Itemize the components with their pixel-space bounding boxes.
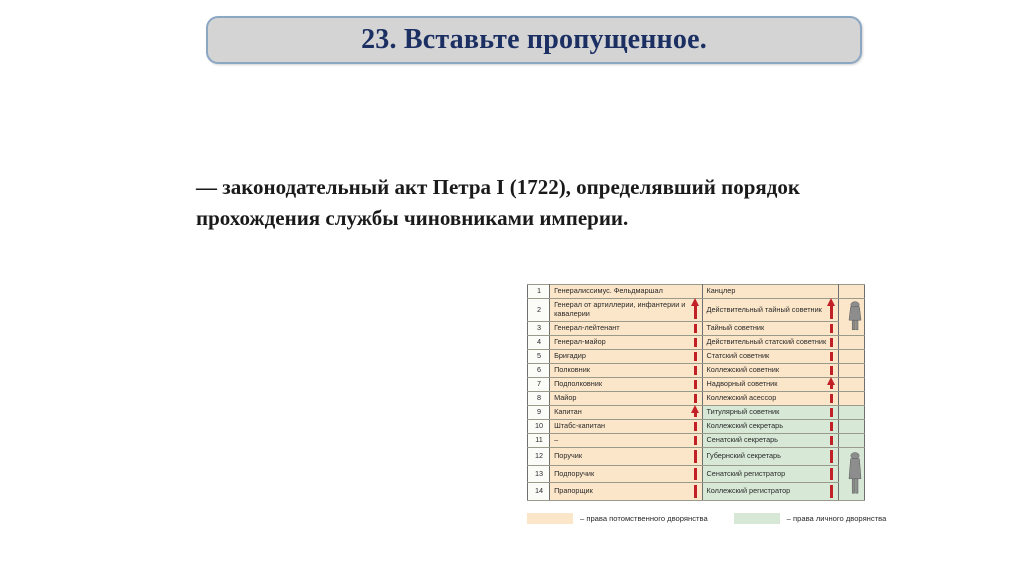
rank-number: 7 <box>528 378 550 392</box>
rank-progression-marker <box>694 378 697 391</box>
civil-rank-label: Надворный советник <box>707 379 778 388</box>
table-row: 12ПоручикГубернский секретарь <box>528 448 865 466</box>
civil-rank-label: Сенатский секретарь <box>707 435 779 444</box>
military-rank-cell: – <box>550 434 702 448</box>
figure-illustration-cell <box>838 434 864 448</box>
rank-progression-marker <box>830 299 833 321</box>
figure-illustration-cell <box>838 336 864 350</box>
marker-dash <box>830 468 833 481</box>
military-rank-cell: Майор <box>550 392 702 406</box>
rank-number: 12 <box>528 448 550 466</box>
civil-rank-cell: Действительный статский советник <box>702 336 838 350</box>
military-rank-label: Полковник <box>554 365 590 374</box>
military-rank-cell: Прапорщик <box>550 483 702 501</box>
table-row: 14ПрапорщикКоллежский регистратор <box>528 483 865 501</box>
page-title: 23. Вставьте пропущенное. <box>361 24 707 56</box>
military-rank-cell: Подпоручик <box>550 465 702 483</box>
legend-label: – права потомственного дворянства <box>580 514 708 523</box>
civil-rank-cell: Коллежский регистратор <box>702 483 838 501</box>
marker-dash <box>694 380 697 389</box>
military-rank-label: Подпоручик <box>554 469 594 478</box>
military-rank-cell: Поручик <box>550 448 702 466</box>
rank-progression-marker <box>694 299 697 321</box>
military-rank-label: Генерал-майор <box>554 337 606 346</box>
figure-illustration-cell <box>838 420 864 434</box>
civil-rank-cell: Коллежский секретарь <box>702 420 838 434</box>
marker-dash <box>694 366 697 375</box>
marker-dash <box>694 436 697 445</box>
military-rank-cell: Подполковник <box>550 378 702 392</box>
civil-rank-cell: Коллежский асессор <box>702 392 838 406</box>
military-rank-label: Бригадир <box>554 351 586 360</box>
civil-rank-label: Коллежский регистратор <box>707 486 791 495</box>
marker-dash <box>694 468 697 481</box>
figure-illustration-cell <box>838 350 864 364</box>
civil-rank-label: Титулярный советник <box>707 407 780 416</box>
figure-illustration-cell <box>838 378 864 392</box>
figure-illustration-cell <box>838 448 864 501</box>
table-row: 1Генералиссимус. ФельдмаршалКанцлер <box>528 285 865 299</box>
rank-table: 1Генералиссимус. ФельдмаршалКанцлер2Гене… <box>527 284 865 501</box>
rank-progression-marker <box>694 466 697 483</box>
marker-dash <box>694 413 697 417</box>
military-rank-cell: Генерал-майор <box>550 336 702 350</box>
marker-arrowhead <box>691 405 699 413</box>
military-rank-label: Генерал-лейтенант <box>554 323 620 332</box>
rank-progression-marker <box>694 448 697 465</box>
civil-rank-cell: Надворный советник <box>702 378 838 392</box>
table-row: 4Генерал-майорДействительный статский со… <box>528 336 865 350</box>
rank-progression-marker <box>694 483 697 500</box>
military-rank-label: Поручик <box>554 451 582 460</box>
table-row: 6ПолковникКоллежский советник <box>528 364 865 378</box>
legend-label: – права личного дворянства <box>787 514 887 523</box>
marker-dash <box>830 394 833 403</box>
civil-rank-cell: Статский советник <box>702 350 838 364</box>
military-rank-cell: Генерал-лейтенант <box>550 321 702 335</box>
rank-progression-marker <box>830 406 833 419</box>
marker-dash <box>830 408 833 417</box>
historical-figure-illustration <box>843 450 867 498</box>
rank-progression-marker <box>694 364 697 377</box>
rank-number: 5 <box>528 350 550 364</box>
slide-title-banner: 23. Вставьте пропущенное. <box>206 16 862 64</box>
civil-rank-label: Сенатский регистратор <box>707 469 786 478</box>
rank-progression-marker <box>830 364 833 377</box>
rank-number: 13 <box>528 465 550 483</box>
civil-rank-label: Действительный статский советник <box>707 337 827 346</box>
military-rank-label: Капитан <box>554 407 582 416</box>
rank-progression-marker <box>830 483 833 500</box>
rank-number: 11 <box>528 434 550 448</box>
marker-arrowhead <box>827 298 835 306</box>
rank-number: 6 <box>528 364 550 378</box>
rank-progression-marker <box>830 392 833 405</box>
figure-illustration-cell <box>838 364 864 378</box>
rank-number: 1 <box>528 285 550 299</box>
civil-rank-label: Коллежский асессор <box>707 393 777 402</box>
marker-dash <box>830 352 833 361</box>
marker-arrowhead <box>691 298 699 306</box>
rank-progression-marker <box>830 336 833 349</box>
civil-rank-cell: Канцлер <box>702 285 838 299</box>
civil-rank-cell: Сенатский секретарь <box>702 434 838 448</box>
rank-progression-marker <box>694 322 697 335</box>
figure-illustration-cell <box>838 392 864 406</box>
military-rank-label: – <box>554 435 558 444</box>
figure-illustration-cell <box>838 299 864 336</box>
marker-dash <box>694 324 697 333</box>
rank-progression-marker <box>694 434 697 447</box>
civil-rank-cell: Тайный советник <box>702 321 838 335</box>
civil-rank-label: Статский советник <box>707 351 770 360</box>
rank-number: 4 <box>528 336 550 350</box>
rank-number: 10 <box>528 420 550 434</box>
historical-figure-illustration <box>843 301 867 333</box>
legend-item: – права личного дворянства <box>734 513 887 524</box>
military-rank-cell: Генералиссимус. Фельдмаршал <box>550 285 702 299</box>
figure-illustration-cell <box>838 285 864 299</box>
marker-dash <box>830 485 833 498</box>
rank-progression-marker <box>694 420 697 433</box>
table-row: 8МайорКоллежский асессор <box>528 392 865 406</box>
civil-rank-label: Коллежский секретарь <box>707 421 784 430</box>
military-rank-label: Генерал от артиллерии, инфантерии и кава… <box>554 300 685 318</box>
civil-rank-cell: Коллежский советник <box>702 364 838 378</box>
rank-progression-marker <box>830 378 833 391</box>
definition-text: — законодательный акт Петра I (1722), оп… <box>196 172 886 234</box>
marker-dash <box>694 485 697 498</box>
rank-number: 14 <box>528 483 550 501</box>
table-row: 13ПодпоручикСенатский регистратор <box>528 465 865 483</box>
military-rank-label: Майор <box>554 393 576 402</box>
rank-number: 2 <box>528 299 550 322</box>
civil-rank-cell: Сенатский регистратор <box>702 465 838 483</box>
marker-arrowhead <box>827 377 835 385</box>
civil-rank-cell: Губернский секретарь <box>702 448 838 466</box>
rank-number: 3 <box>528 321 550 335</box>
table-of-ranks: 1Генералиссимус. ФельдмаршалКанцлер2Гене… <box>527 284 865 501</box>
rank-number: 8 <box>528 392 550 406</box>
rank-progression-marker <box>830 448 833 465</box>
table-row: 2Генерал от артиллерии, инфантерии и кав… <box>528 299 865 322</box>
table-row: 7ПодполковникНадворный советник <box>528 378 865 392</box>
table-row: 10Штабс-капитанКоллежский секретарь <box>528 420 865 434</box>
civil-rank-label: Тайный советник <box>707 323 765 332</box>
marker-dash <box>830 324 833 333</box>
table-row: 9КапитанТитулярный советник <box>528 406 865 420</box>
military-rank-cell: Штабс-капитан <box>550 420 702 434</box>
civil-rank-label: Губернский секретарь <box>707 451 781 460</box>
legend: – права потомственного дворянства– права… <box>527 513 872 524</box>
rank-progression-marker <box>694 336 697 349</box>
marker-dash <box>694 306 697 319</box>
military-rank-label: Генералиссимус. Фельдмаршал <box>554 286 663 295</box>
civil-rank-label: Канцлер <box>707 286 736 295</box>
legend-color-swatch <box>734 513 780 524</box>
rank-progression-marker <box>830 322 833 335</box>
rank-progression-marker <box>694 392 697 405</box>
table-row: 3Генерал-лейтенантТайный советник <box>528 321 865 335</box>
legend-item: – права потомственного дворянства <box>527 513 708 524</box>
rank-progression-marker <box>830 466 833 483</box>
marker-dash <box>830 436 833 445</box>
marker-dash <box>830 450 833 463</box>
civil-rank-cell: Титулярный советник <box>702 406 838 420</box>
rank-progression-marker <box>830 434 833 447</box>
military-rank-label: Штабс-капитан <box>554 421 605 430</box>
civil-rank-label: Коллежский советник <box>707 365 780 374</box>
marker-dash <box>830 338 833 347</box>
rank-progression-marker <box>830 420 833 433</box>
marker-dash <box>830 422 833 431</box>
marker-dash <box>694 338 697 347</box>
rank-number: 9 <box>528 406 550 420</box>
military-rank-cell: Полковник <box>550 364 702 378</box>
figure-illustration-cell <box>838 406 864 420</box>
rank-progression-marker <box>830 350 833 363</box>
table-row: 11–Сенатский секретарь <box>528 434 865 448</box>
marker-dash <box>830 366 833 375</box>
military-rank-label: Подполковник <box>554 379 602 388</box>
military-rank-label: Прапорщик <box>554 486 593 495</box>
marker-dash <box>830 306 833 319</box>
table-row: 5БригадирСтатский советник <box>528 350 865 364</box>
civil-rank-label: Действительный тайный советник <box>707 305 822 314</box>
military-rank-cell: Генерал от артиллерии, инфантерии и кава… <box>550 299 702 322</box>
civil-rank-cell: Действительный тайный советник <box>702 299 838 322</box>
marker-dash <box>694 422 697 431</box>
marker-dash <box>694 450 697 463</box>
marker-dash <box>694 394 697 403</box>
rank-progression-marker <box>694 406 697 419</box>
marker-dash <box>694 352 697 361</box>
legend-color-swatch <box>527 513 573 524</box>
military-rank-cell: Бригадир <box>550 350 702 364</box>
rank-progression-marker <box>694 350 697 363</box>
military-rank-cell: Капитан <box>550 406 702 420</box>
marker-dash <box>830 385 833 389</box>
